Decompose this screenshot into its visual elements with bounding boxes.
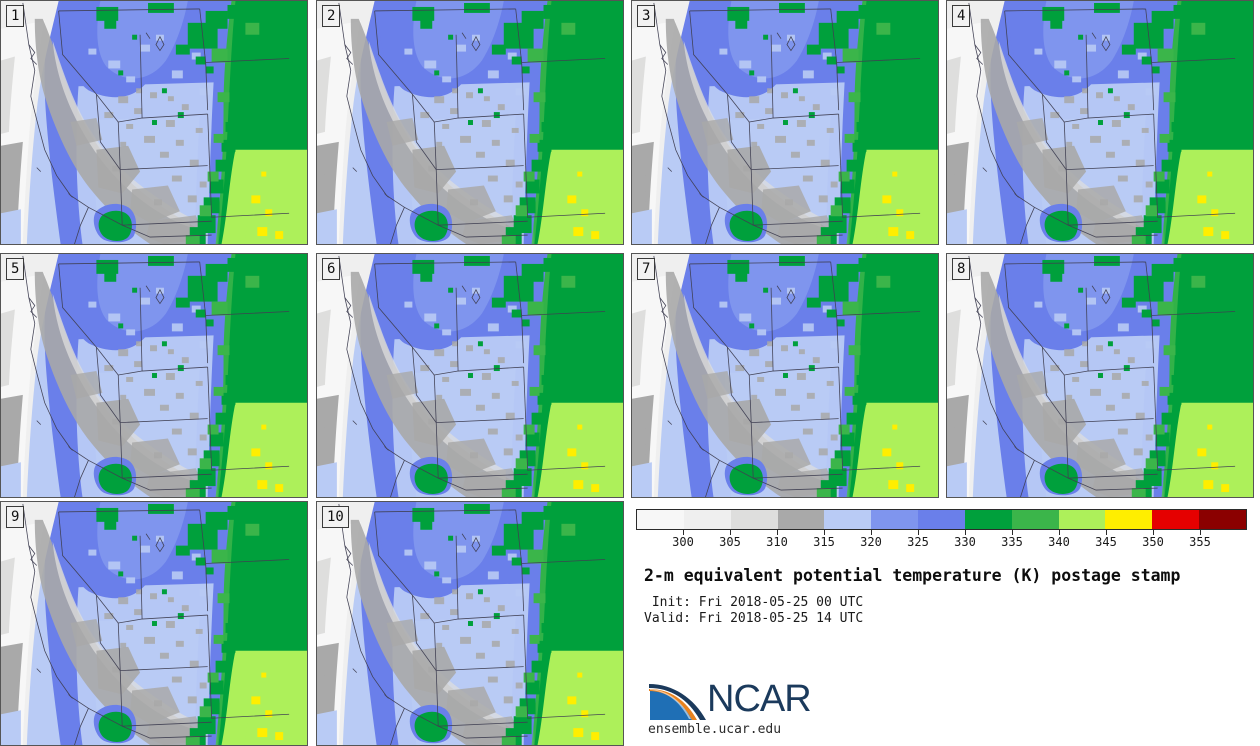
colorbar-swatch-white-grey — [684, 510, 731, 529]
stamp-map — [317, 254, 623, 497]
panel-number-label: 9 — [6, 506, 24, 528]
colorbar-tick-label: 305 — [719, 534, 741, 550]
stamp-panel[interactable]: 4 — [946, 0, 1254, 245]
colorbar-swatch-blue — [871, 510, 918, 529]
colorbar-swatch-dark-red — [1199, 510, 1246, 529]
panel-number-label: 5 — [6, 258, 24, 280]
colorbar-tick-label: 315 — [813, 534, 835, 550]
valid-time-line: Valid: Fri 2018-05-25 14 UTC — [644, 611, 863, 626]
colorbar-tick-label: 355 — [1189, 534, 1211, 550]
colorbar-tick-label: 300 — [672, 534, 694, 550]
stamp-panel[interactable]: 7 — [631, 253, 939, 498]
panel-number-label: 2 — [322, 5, 340, 27]
stamp-panel[interactable]: 8 — [946, 253, 1254, 498]
colorbar-tick-label: 310 — [766, 534, 788, 550]
stamp-panel[interactable]: 2 — [316, 0, 624, 245]
stamp-map — [317, 1, 623, 244]
colorbar-tick-label: 340 — [1048, 534, 1070, 550]
figure-root: 1 2 3 4 5 6 7 8 9 10 300305310315320325 — [0, 0, 1260, 746]
panel-number-label: 3 — [637, 5, 655, 27]
colorbar-tick-label: 330 — [954, 534, 976, 550]
colorbar-swatch-red — [1152, 510, 1199, 529]
panel-number-label: 10 — [322, 506, 349, 528]
panel-number-label: 6 — [322, 258, 340, 280]
colorbar-tick-label: 325 — [907, 534, 929, 550]
panel-number-label: 7 — [637, 258, 655, 280]
colorbar: 300305310315320325330335340345350355 — [636, 509, 1247, 550]
stamp-map — [1, 1, 307, 244]
ncar-swoosh-icon — [648, 676, 708, 722]
figure-title: 2-m equivalent potential temperature (K)… — [644, 566, 1180, 585]
colorbar-swatch-medium-green — [1012, 510, 1059, 529]
init-time-line: Init: Fri 2018-05-25 00 UTC — [644, 595, 863, 610]
stamp-map — [632, 1, 938, 244]
stamp-panel[interactable]: 6 — [316, 253, 624, 498]
colorbar-swatch-green — [965, 510, 1012, 529]
ncar-wordmark: NCAR — [707, 679, 811, 719]
colorbar-swatch-yellow — [1105, 510, 1152, 529]
colorbar-swatches — [636, 509, 1247, 530]
colorbar-swatch-light-grey — [731, 510, 778, 529]
stamp-panel[interactable]: 3 — [631, 0, 939, 245]
panel-number-label: 4 — [952, 5, 970, 27]
panel-number-label: 1 — [6, 5, 24, 27]
stamp-map — [1, 502, 307, 745]
colorbar-swatch-light-green — [1059, 510, 1106, 529]
colorbar-tick-label: 350 — [1142, 534, 1164, 550]
stamp-panel[interactable]: 10 — [316, 501, 624, 746]
colorbar-swatch-pale-blue — [824, 510, 871, 529]
stamp-map — [632, 254, 938, 497]
stamp-map — [1, 254, 307, 497]
ncar-logo[interactable]: NCAR ensemble.ucar.edu — [648, 676, 848, 740]
stamp-map — [947, 254, 1253, 497]
stamp-map — [317, 502, 623, 745]
ncar-url-label: ensemble.ucar.edu — [648, 722, 781, 738]
stamp-map — [947, 1, 1253, 244]
stamp-panel[interactable]: 9 — [0, 501, 308, 746]
colorbar-tick-label: 345 — [1095, 534, 1117, 550]
colorbar-tick-label: 320 — [860, 534, 882, 550]
colorbar-tick-labels: 300305310315320325330335340345350355 — [636, 534, 1247, 550]
panel-number-label: 8 — [952, 258, 970, 280]
stamp-panel[interactable]: 1 — [0, 0, 308, 245]
colorbar-swatch-near-white — [637, 510, 684, 529]
colorbar-tick-label: 335 — [1001, 534, 1023, 550]
colorbar-swatch-mid-grey — [778, 510, 825, 529]
colorbar-swatch-deeper-blue — [918, 510, 965, 529]
figure-time-info: Init: Fri 2018-05-25 00 UTC Valid: Fri 2… — [644, 595, 863, 627]
stamp-panel[interactable]: 5 — [0, 253, 308, 498]
